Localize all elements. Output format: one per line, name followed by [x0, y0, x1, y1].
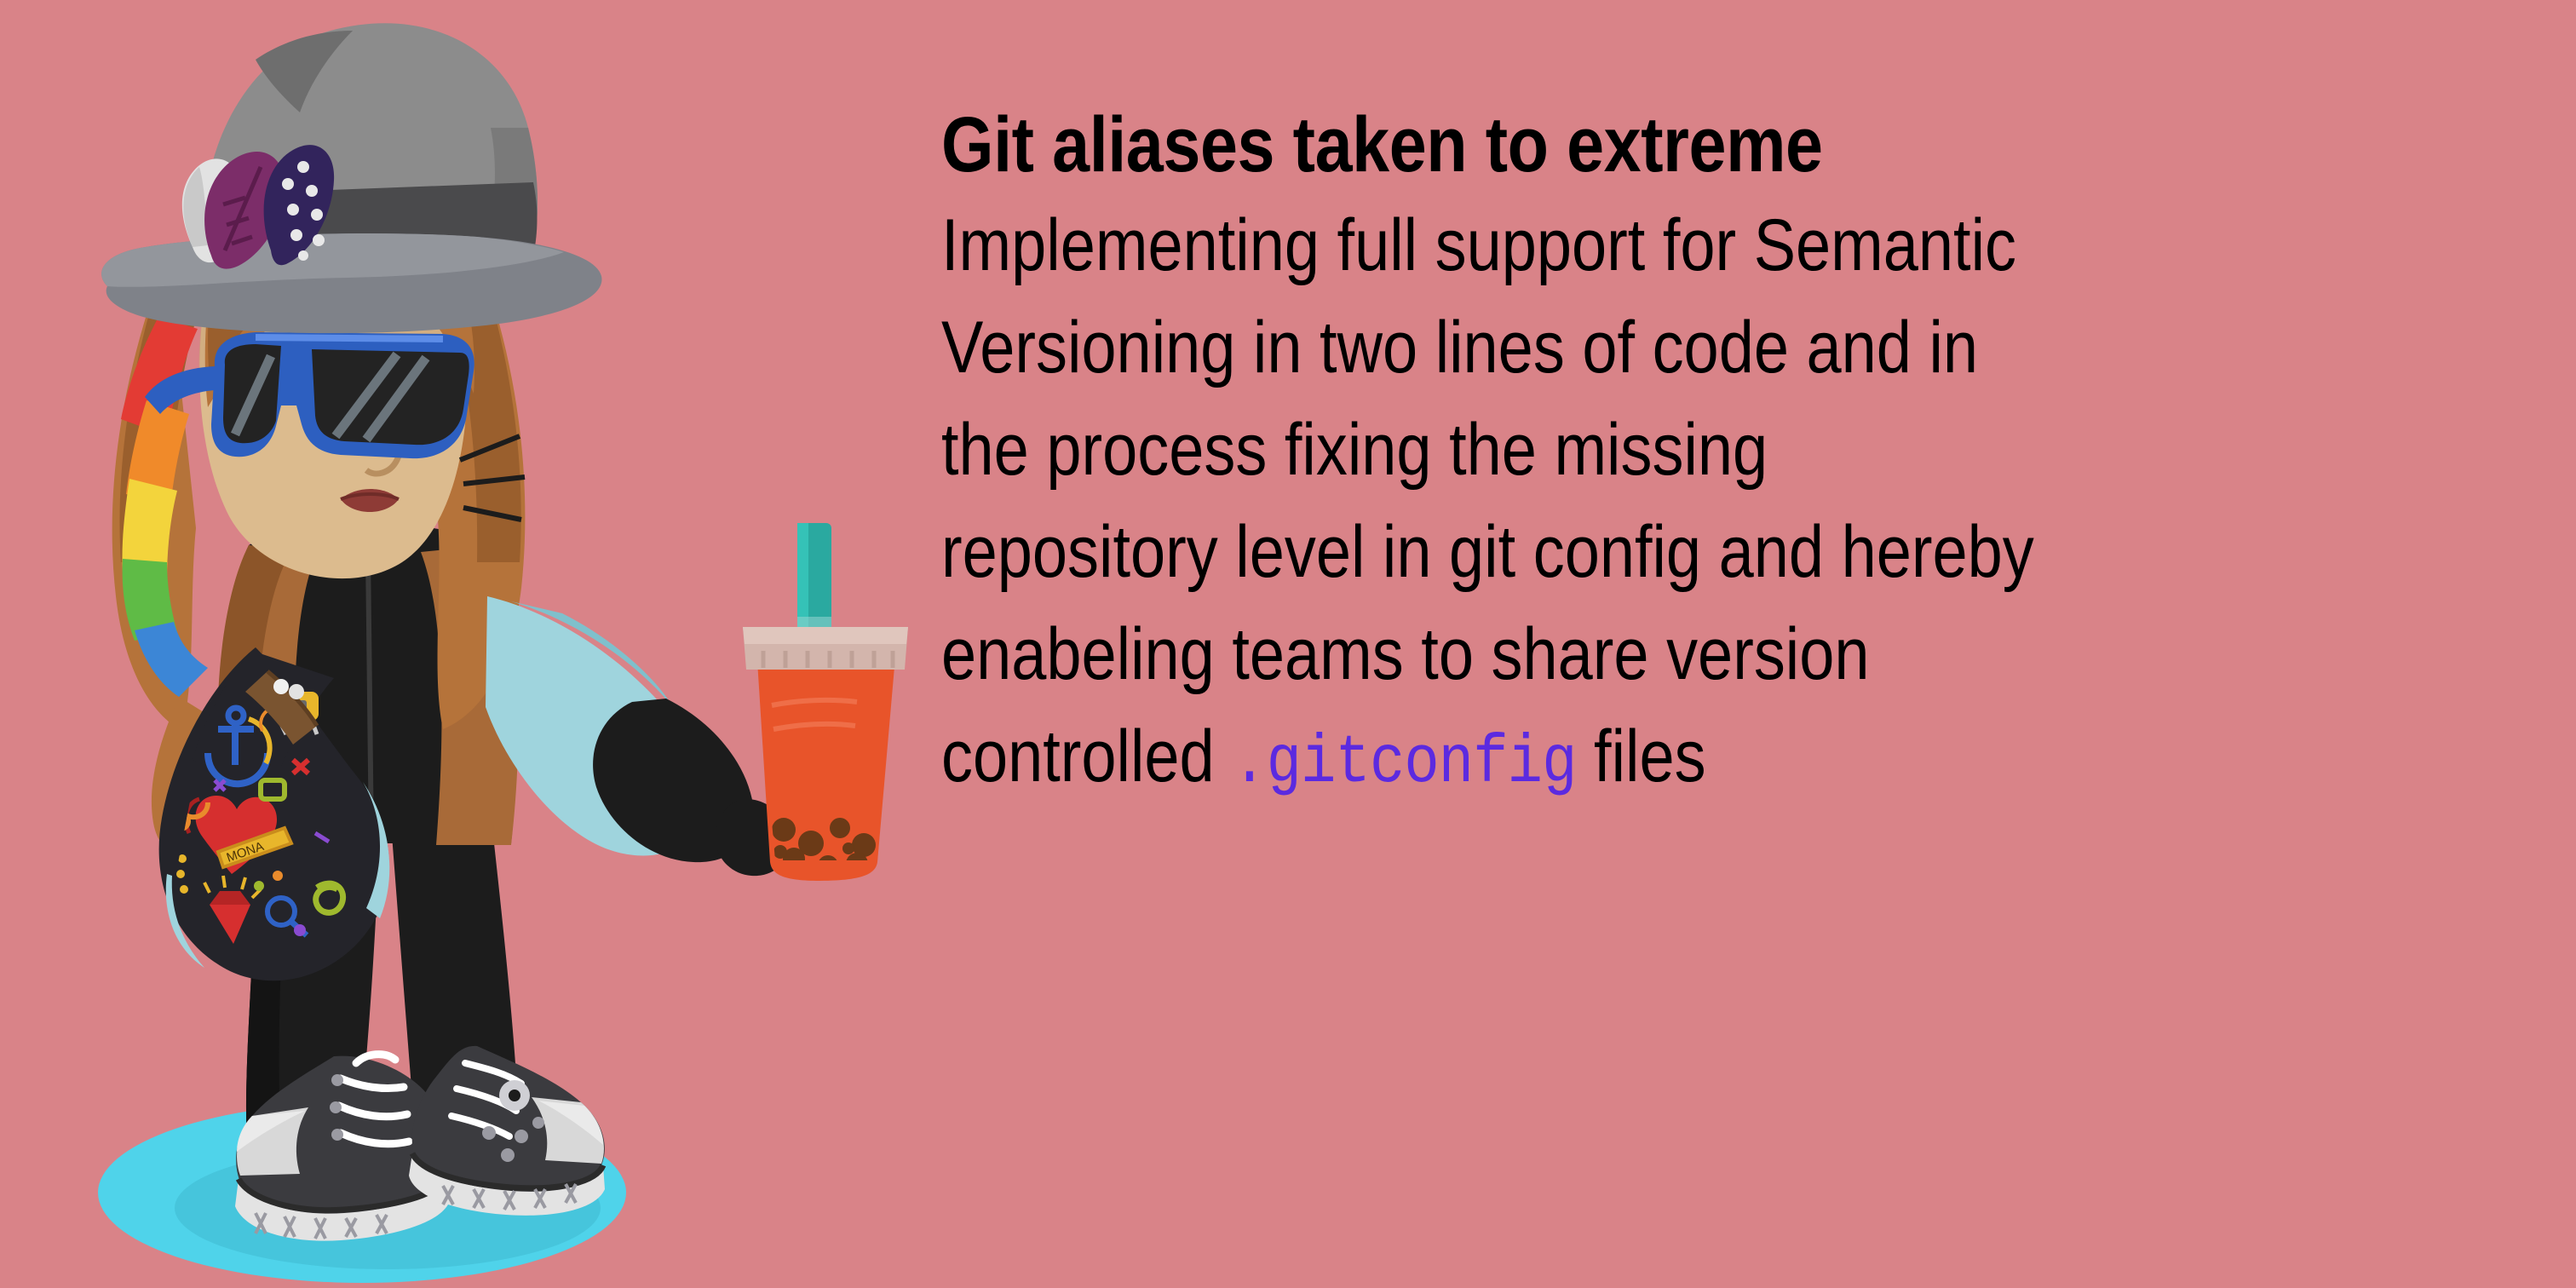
octocat-illustration: MONA [0, 0, 920, 1288]
sunglasses [145, 332, 474, 458]
body-line-5: enabeling teams to share version [941, 603, 2297, 705]
body-line-4: repository level in git config and hereb… [941, 501, 2297, 603]
body-line-3: the process fixing the missing [941, 399, 2297, 501]
body-line-2: Versioning in two lines of code and in [941, 296, 2297, 399]
social-card: MONA [0, 0, 2576, 1288]
body-line-6-prefix: controlled [941, 716, 1232, 797]
text-column: Git aliases taken to extreme Implementin… [941, 101, 2517, 815]
body-line-6: controlled .gitconfig files [941, 705, 2297, 815]
drink-arm [486, 596, 789, 876]
body-line-6-suffix: files [1577, 716, 1706, 797]
gitconfig-code: .gitconfig [1232, 725, 1576, 802]
body-line-1: Implementing full support for Semantic [941, 194, 2297, 296]
page-title: Git aliases taken to extreme [941, 101, 2297, 189]
fedora-hat [101, 23, 601, 333]
body-copy: Implementing full support for Semantic V… [941, 194, 2297, 815]
